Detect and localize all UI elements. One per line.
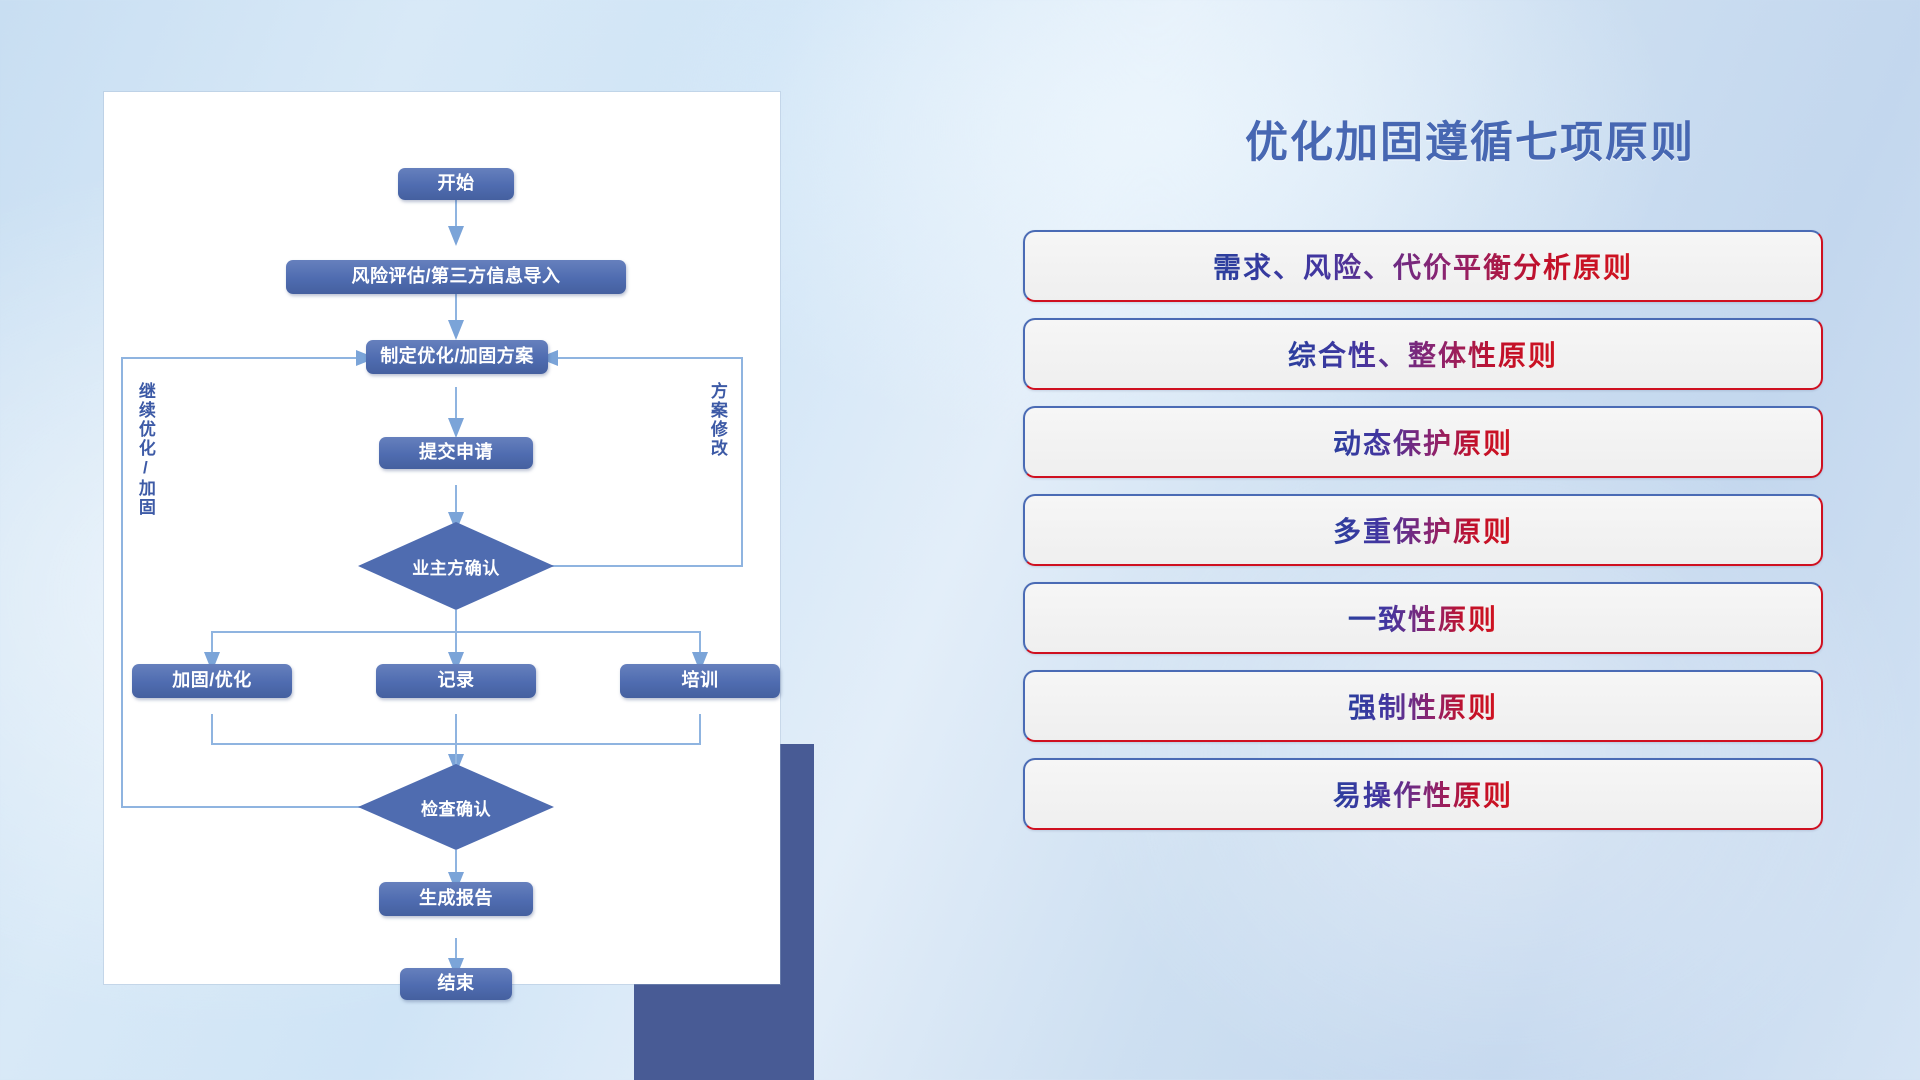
node-owner-confirm[interactable]: 业主方确认 xyxy=(358,522,554,610)
node-record-label: 记录 xyxy=(438,671,475,691)
node-reinforce-optimize-label: 加固/优化 xyxy=(172,671,252,691)
node-submit-application-label: 提交申请 xyxy=(419,443,493,463)
node-owner-confirm-label: 业主方确认 xyxy=(412,554,500,579)
node-risk-assessment[interactable]: 风险评估/第三方信息导入 xyxy=(286,260,626,294)
principle-item[interactable]: 强制性原则 xyxy=(1023,670,1823,742)
node-check-confirm[interactable]: 检查确认 xyxy=(358,764,554,850)
principle-label: 强制性原则 xyxy=(1348,686,1498,726)
principle-item[interactable]: 一致性原则 xyxy=(1023,582,1823,654)
node-reinforce-optimize[interactable]: 加固/优化 xyxy=(132,664,292,698)
principle-item[interactable]: 易操作性原则 xyxy=(1023,758,1823,830)
node-start-label: 开始 xyxy=(438,174,475,194)
principle-item[interactable]: 动态保护原则 xyxy=(1023,406,1823,478)
principle-label: 动态保护原则 xyxy=(1333,422,1513,462)
principles-panel: 优化加固遵循七项原则 需求、风险、代价平衡分析原则 综合性、整体性原则 动态保护… xyxy=(1010,0,1920,1080)
page-title: 优化加固遵循七项原则 xyxy=(1130,108,1810,170)
principle-label: 综合性、整体性原则 xyxy=(1288,334,1558,374)
principle-label: 多重保护原则 xyxy=(1333,510,1513,550)
edge-label-left-loop: 继续优化/加固 xyxy=(136,382,154,517)
node-end[interactable]: 结束 xyxy=(400,968,512,1000)
node-end-label: 结束 xyxy=(438,974,475,994)
flowchart-card: 开始 风险评估/第三方信息导入 制定优化/加固方案 提交申请 业主方确认 加固/… xyxy=(104,92,780,984)
node-risk-assessment-label: 风险评估/第三方信息导入 xyxy=(352,267,561,287)
principle-label: 需求、风险、代价平衡分析原则 xyxy=(1213,246,1633,286)
node-training-label: 培训 xyxy=(682,671,719,691)
node-generate-report-label: 生成报告 xyxy=(419,889,493,909)
node-check-confirm-label: 检查确认 xyxy=(421,795,491,820)
edge-label-right-loop: 方案修改 xyxy=(708,382,726,458)
principle-item[interactable]: 多重保护原则 xyxy=(1023,494,1823,566)
node-submit-application[interactable]: 提交申请 xyxy=(379,437,533,469)
principle-label: 一致性原则 xyxy=(1348,598,1498,638)
principle-item[interactable]: 综合性、整体性原则 xyxy=(1023,318,1823,390)
node-record[interactable]: 记录 xyxy=(376,664,536,698)
node-make-plan[interactable]: 制定优化/加固方案 xyxy=(366,340,548,374)
flowchart-card-wrapper: 开始 风险评估/第三方信息导入 制定优化/加固方案 提交申请 业主方确认 加固/… xyxy=(104,92,784,992)
principle-item[interactable]: 需求、风险、代价平衡分析原则 xyxy=(1023,230,1823,302)
node-make-plan-label: 制定优化/加固方案 xyxy=(380,347,534,367)
principle-label: 易操作性原则 xyxy=(1333,774,1513,814)
node-training[interactable]: 培训 xyxy=(620,664,780,698)
node-generate-report[interactable]: 生成报告 xyxy=(379,882,533,916)
principles-list: 需求、风险、代价平衡分析原则 综合性、整体性原则 动态保护原则 多重保护原则 一… xyxy=(1023,230,1823,846)
node-start[interactable]: 开始 xyxy=(398,168,514,200)
